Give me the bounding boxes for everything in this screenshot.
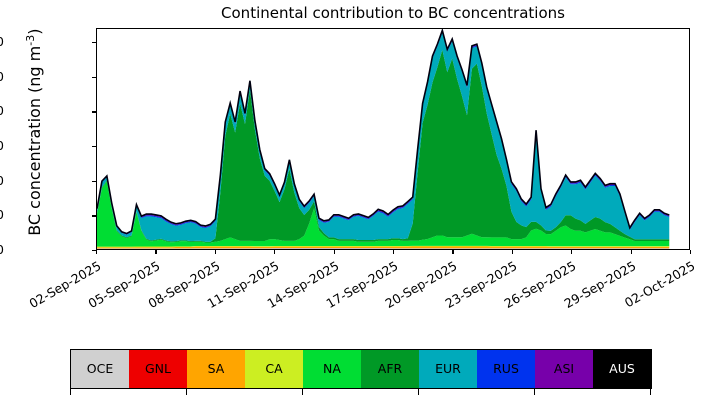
stacked-area-svg <box>97 29 689 249</box>
x-tick-mark <box>155 250 156 254</box>
y-tick-label: 100 <box>0 69 4 84</box>
legend-item-oce[interactable]: OCE <box>71 350 129 388</box>
x-tick-mark <box>96 250 97 254</box>
legend-item-na[interactable]: NA <box>303 350 361 388</box>
legend-item-gnl[interactable]: GNL <box>129 350 187 388</box>
y-tick-label: 60 <box>0 138 4 153</box>
legend-item-rus[interactable]: RUS <box>477 350 535 388</box>
y-axis-label: BC concentration (ng m-3) <box>24 2 44 262</box>
legend: OCEGNLSACANAAFREURRUSASIAUS <box>70 349 652 389</box>
y-axis-label-paren: ) <box>25 29 44 35</box>
legend-tick-mark <box>534 388 535 395</box>
y-axis-label-text: BC concentration (ng m <box>25 46 44 236</box>
legend-tick-mark <box>186 388 187 395</box>
legend-tick-row <box>70 388 652 396</box>
x-tick-mark <box>334 250 335 254</box>
legend-tick-mark <box>418 388 419 395</box>
legend-item-asi[interactable]: ASI <box>535 350 593 388</box>
legend-item-sa[interactable]: SA <box>187 350 245 388</box>
chart-figure: Continental contribution to BC concentra… <box>0 0 707 402</box>
y-tick-label: 120 <box>0 34 4 49</box>
y-tick-label: 40 <box>0 173 4 188</box>
y-tick-label: 80 <box>0 103 4 118</box>
x-tick-mark <box>631 250 632 254</box>
x-tick-mark <box>452 250 453 254</box>
y-axis-label-exponent: -3 <box>24 35 37 46</box>
plot-clip <box>97 29 689 249</box>
x-tick-mark <box>215 250 216 254</box>
plot-area <box>96 28 690 250</box>
legend-item-ca[interactable]: CA <box>245 350 303 388</box>
x-tick-mark <box>690 250 691 254</box>
legend-tick-mark <box>302 388 303 395</box>
x-tick-mark <box>274 250 275 254</box>
legend-item-eur[interactable]: EUR <box>419 350 477 388</box>
legend-tick-mark <box>70 388 71 395</box>
x-tick-mark <box>512 250 513 254</box>
x-tick-mark <box>393 250 394 254</box>
legend-item-afr[interactable]: AFR <box>361 350 419 388</box>
chart-title: Continental contribution to BC concentra… <box>96 4 690 22</box>
y-tick-label: 0 <box>0 242 4 257</box>
legend-tick-mark <box>650 388 651 395</box>
y-tick-label: 20 <box>0 207 4 222</box>
x-tick-mark <box>571 250 572 254</box>
legend-item-aus[interactable]: AUS <box>593 350 651 388</box>
